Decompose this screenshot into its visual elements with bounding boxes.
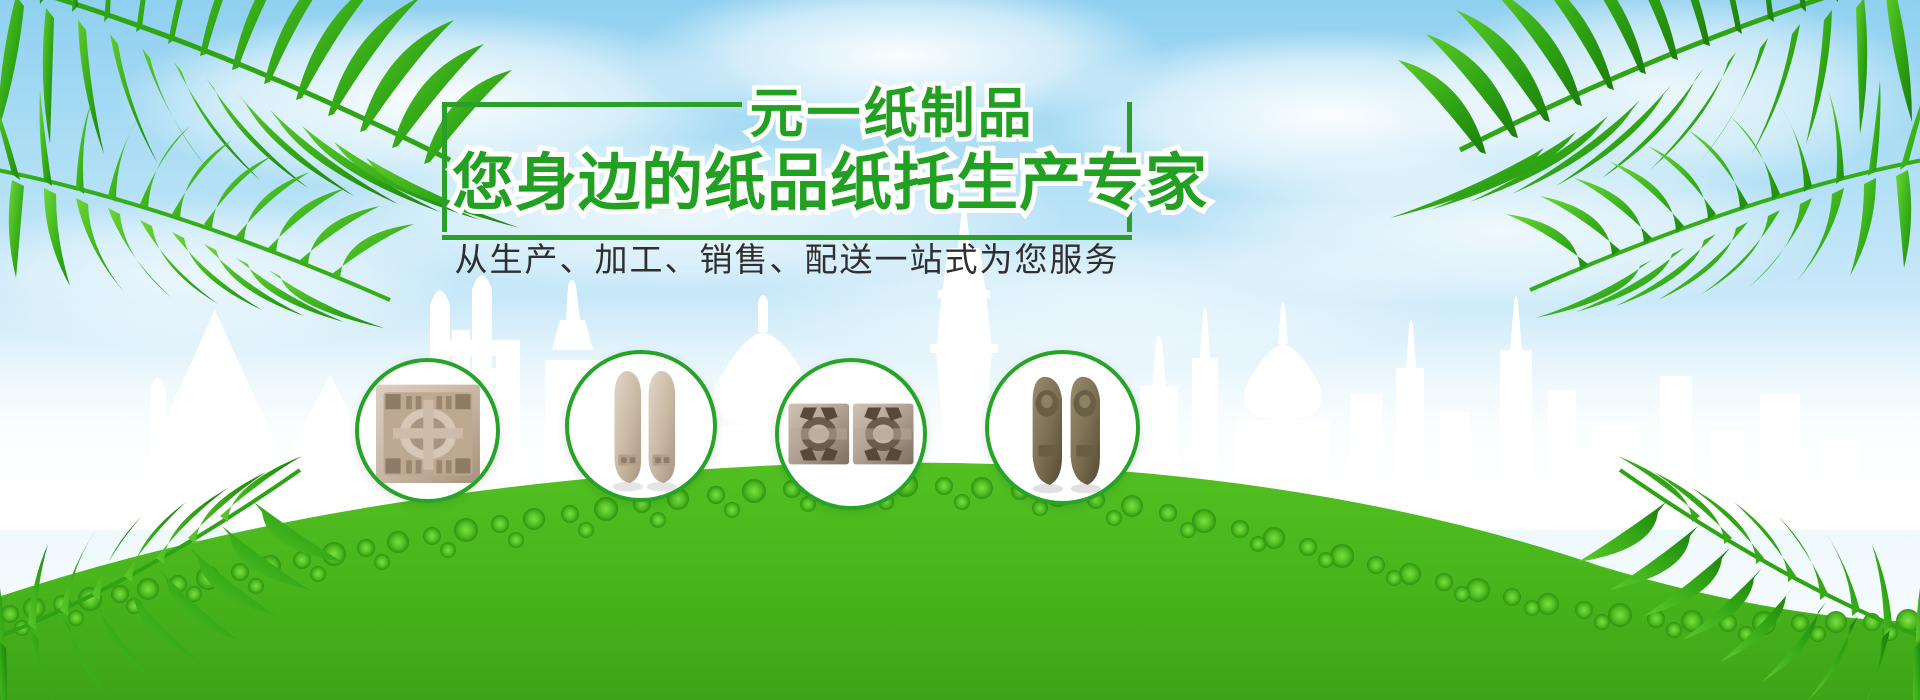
molded-pulp-shoe-tree-pair-icon [569,354,713,498]
product-circle-4[interactable] [985,350,1140,505]
product-circle-2[interactable] [565,350,717,502]
product-circle-1[interactable] [355,358,500,503]
bracket-left [442,102,447,232]
promo-banner: 元一纸制品 您身边的纸品纸托生产专家 从生产、加工、销售、配送一站式为您服务 [0,0,1920,700]
headline-text: 您身边的纸品纸托生产专家 [452,144,1122,222]
cloud-icon [1400,0,1920,190]
subtitle-text: 从生产、加工、销售、配送一站式为您服务 [442,238,1132,282]
molded-pulp-tray-double-icon [779,362,923,506]
headline-block: 元一纸制品 您身边的纸品纸托生产专家 [442,92,1132,232]
product-circle-3[interactable] [775,358,927,510]
green-hill-icon [0,370,1920,700]
molded-pulp-shoe-insert-pair-icon [989,354,1136,501]
molded-pulp-tray-square-icon [359,362,496,499]
brand-title: 元一纸制品 [642,84,1142,144]
